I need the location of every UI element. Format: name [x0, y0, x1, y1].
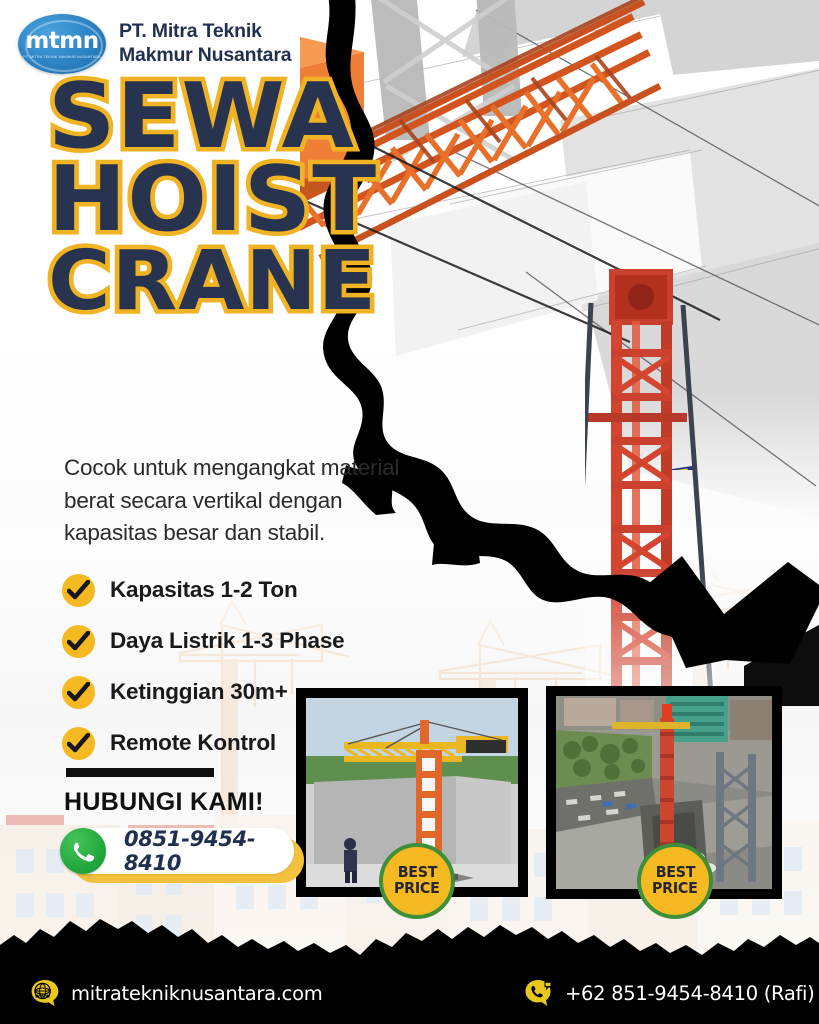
title-line-crane: CRANE [48, 247, 377, 318]
www-globe-icon: www [30, 978, 60, 1008]
footer-website-text: mitratekniknusantara.com [71, 982, 322, 1005]
feature-item: Ketinggian 30m+ [62, 668, 344, 716]
whatsapp-icon[interactable] [60, 828, 106, 874]
company-name-line1: PT. Mitra Teknik [119, 20, 291, 44]
poster-title: SEWA HOIST CRANE [48, 78, 365, 317]
logo-wordmark: mtmn [25, 30, 98, 53]
poster-root: mtmn PT. MITRA TEKNIK MAKMUR NUSANTARA P… [0, 0, 819, 1024]
company-name: PT. Mitra Teknik Makmur Nusantara [119, 20, 291, 68]
check-icon [62, 625, 95, 658]
footer-jagged-edge [0, 899, 819, 969]
footer-phone[interactable]: +62 851-9454-8410 (Rafi) [524, 978, 814, 1008]
logo-subtitle: PT. MITRA TEKNIK MAKMUR NUSANTARA [23, 55, 101, 59]
check-icon [62, 676, 95, 709]
contact-heading: HUBUNGI KAMI! [64, 788, 264, 817]
title-line-sewa: SEWA [48, 78, 377, 155]
crane-3d-cad-render [300, 0, 819, 470]
footer-website[interactable]: www mitratekniknusantara.com [30, 978, 322, 1008]
divider-rule [66, 768, 214, 777]
footer: www mitratekniknusantara.com +62 851-945… [0, 899, 819, 1024]
phone-number: 0851-9454-8410 [124, 827, 294, 875]
badge-line2: PRICE [652, 881, 698, 897]
badge-line2: PRICE [394, 881, 440, 897]
feature-label: Daya Listrik 1-3 Phase [110, 628, 344, 654]
footer-phone-text: +62 851-9454-8410 (Rafi) [565, 982, 814, 1005]
check-icon [62, 574, 95, 607]
feature-label: Kapasitas 1-2 Ton [110, 577, 298, 603]
title-line-hoist: HOIST [48, 161, 377, 238]
feature-label: Ketinggian 30m+ [110, 679, 288, 705]
phone-pill[interactable]: 0851-9454-8410 [62, 828, 294, 874]
feature-label: Remote Kontrol [110, 730, 276, 756]
svg-text:www: www [35, 994, 51, 1000]
feature-item: Daya Listrik 1-3 Phase [62, 617, 344, 665]
feature-item: Remote Kontrol [62, 719, 344, 767]
black-chevron-accent [648, 556, 819, 706]
feature-list: Kapasitas 1-2 Ton Daya Listrik 1-3 Phase… [62, 566, 344, 770]
description-text: Cocok untuk mengangkat material berat se… [64, 452, 434, 550]
check-icon [62, 727, 95, 760]
phone-bubble-icon [524, 978, 554, 1008]
feature-item: Kapasitas 1-2 Ton [62, 566, 344, 614]
